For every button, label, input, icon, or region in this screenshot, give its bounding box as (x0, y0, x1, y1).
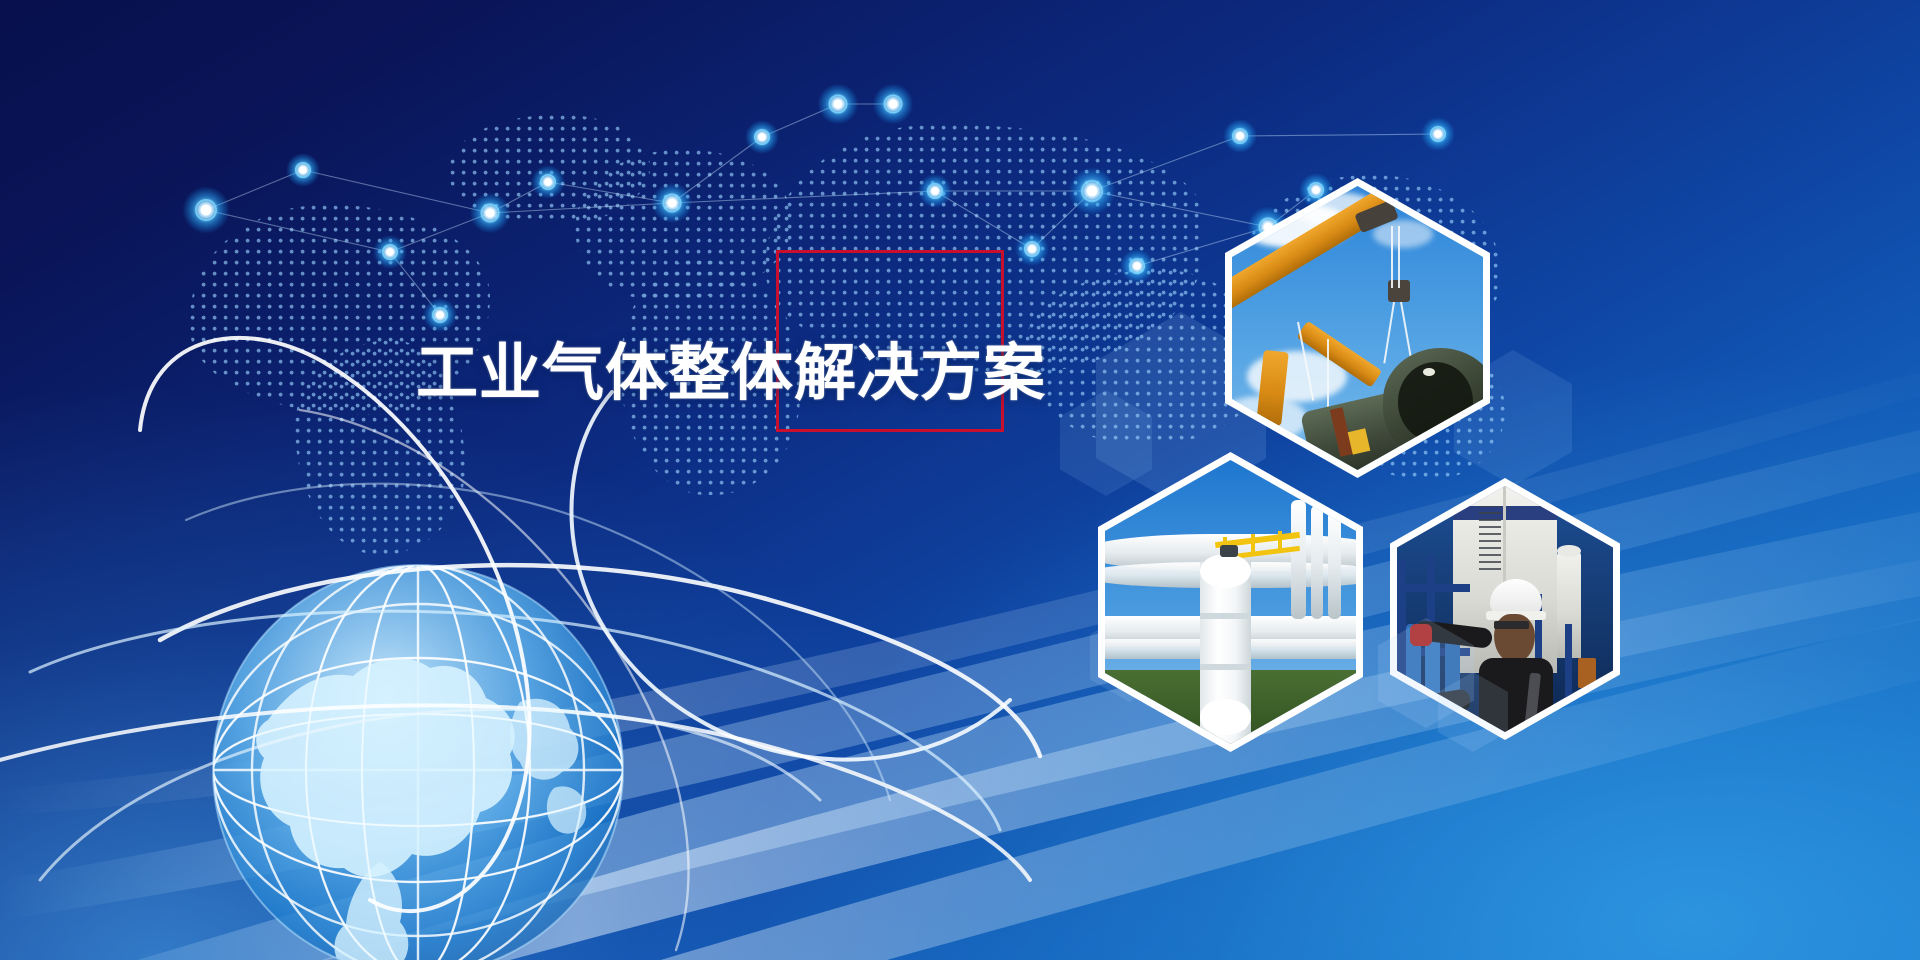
page-title: 工业气体整体解决方案 (416, 322, 1046, 412)
industrial-gas-banner: 工业气体整体解决方案 (0, 0, 1920, 960)
title-block: 工业气体整体解决方案 (0, 0, 1920, 960)
